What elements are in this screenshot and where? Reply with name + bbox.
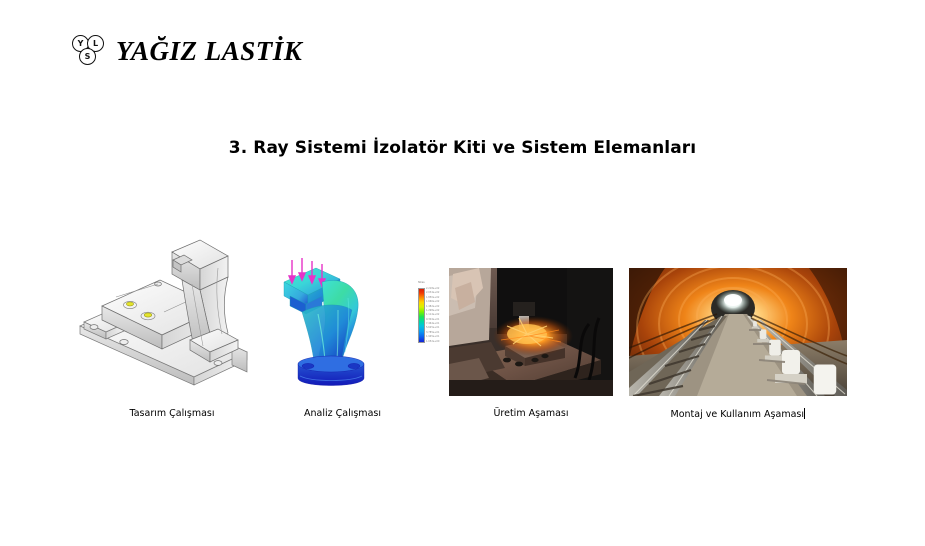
fea-tick: 3.785e+01 (426, 332, 439, 334)
figure-production-photo (449, 268, 613, 396)
figure-caption-analysis: Analiz Çalışması (265, 408, 420, 419)
figure-assembly-photo (629, 268, 847, 396)
fea-tick: 5.625e+01 (426, 327, 439, 329)
fea-tick: 1.298e+02 (426, 310, 439, 312)
presentation-slide: Y L S YAĞIZ LASTİK 3. Ray Sistemi İzolat… (0, 0, 925, 546)
text-cursor-caret (804, 408, 805, 419)
figure-analysis-image (278, 252, 393, 398)
fea-tick: 1.850e+02 (426, 297, 439, 299)
fea-tick: 2.034e+02 (426, 292, 439, 294)
fea-colorbar-gradient (418, 288, 425, 343)
fea-colorbar-legend: Stres 2.218e+02 2.034e+02 1.850e+02 1.66… (418, 286, 442, 344)
fea-legend-title: Stres (418, 281, 425, 284)
figure-design-image (72, 234, 272, 394)
fea-tick: 1.114e+02 (426, 314, 439, 316)
fea-colorbar-ticks: 2.218e+02 2.034e+02 1.850e+02 1.666e+02 … (426, 288, 439, 343)
fea-tick: 1.945e+01 (426, 336, 439, 338)
fea-tick: 7.464e+01 (426, 323, 439, 325)
figure-caption-assembly-text: Montaj ve Kullanım Aşaması (671, 409, 804, 420)
fea-tick: 9.304e+01 (426, 319, 439, 321)
figure-caption-assembly: Montaj ve Kullanım Aşaması (629, 408, 847, 420)
fea-tick: 1.666e+02 (426, 301, 439, 303)
figure-caption-production: Üretim Aşaması (449, 408, 613, 419)
figure-row: Tasarım Çalışması (0, 0, 925, 546)
fea-tick: 1.482e+02 (426, 306, 439, 308)
fea-tick: 2.218e+02 (426, 288, 439, 290)
figure-caption-design: Tasarım Çalışması (72, 408, 272, 419)
fea-tick: 1.052e+00 (426, 341, 439, 343)
